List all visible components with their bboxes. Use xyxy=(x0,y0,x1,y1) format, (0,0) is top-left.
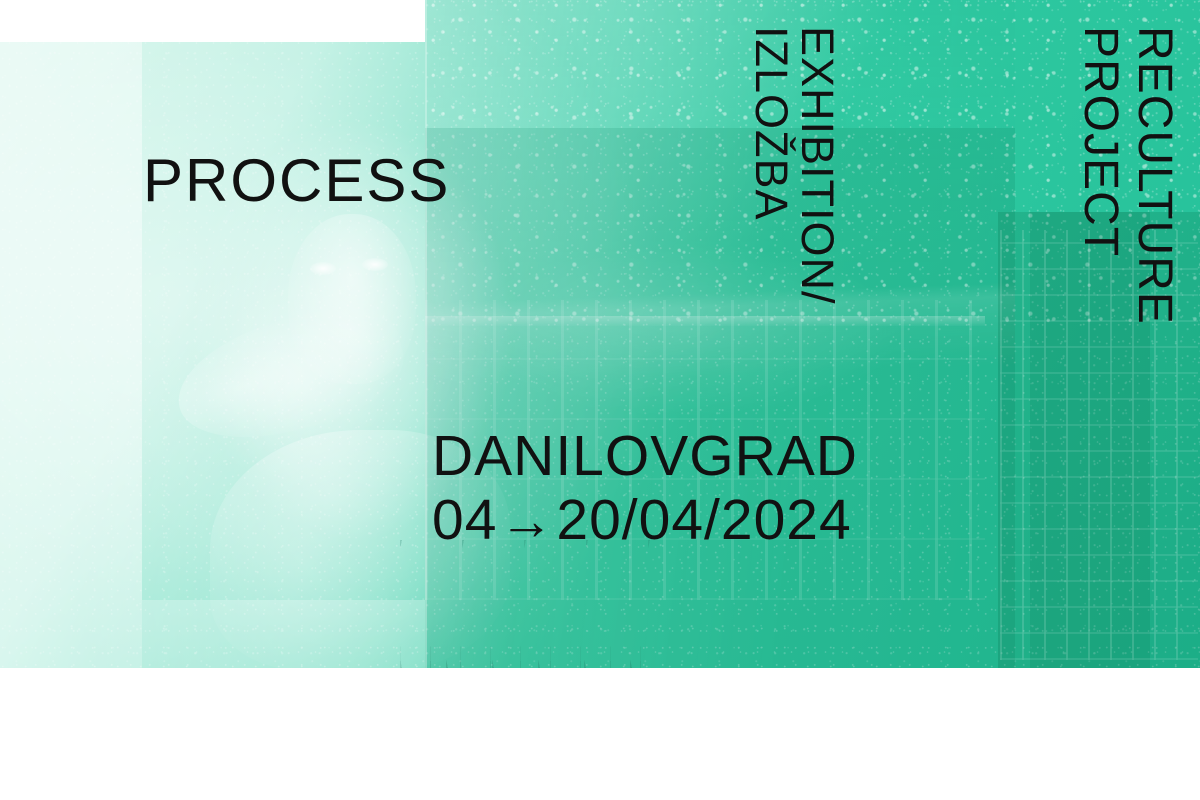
overlay-panel-top-white xyxy=(0,0,425,42)
label-project-name: RECULTURE xyxy=(1130,26,1178,325)
artwork-band: PROCESS DANILOVGRAD 04→20/04/2024 EXHIBI… xyxy=(0,0,1200,668)
overlay-panel-middle xyxy=(425,128,1015,668)
overlay-panel-bottom-strip xyxy=(142,600,425,668)
page-title: PROCESS xyxy=(143,151,450,211)
poster-canvas: PROCESS DANILOVGRAD 04→20/04/2024 EXHIBI… xyxy=(0,0,1200,800)
date-start: 04 xyxy=(432,488,497,552)
date-end: 20/04/2024 xyxy=(556,488,851,552)
overlay-vertical-seam xyxy=(425,0,427,668)
city-label: DANILOVGRAD xyxy=(432,428,858,485)
date-range: 04→20/04/2024 xyxy=(432,492,852,549)
overlay-panel-left-light xyxy=(0,42,142,668)
label-exhibition: EXHIBITION/ xyxy=(795,26,840,305)
arrow-right-icon: → xyxy=(497,491,556,551)
label-exhibition-local: IZLOŽBA xyxy=(749,26,794,221)
label-project-word: PROJECT xyxy=(1076,26,1124,257)
footer-bar: UMJETNIČKA KOLONIJA DANILOVGRAD CULTURE … xyxy=(0,668,1200,800)
